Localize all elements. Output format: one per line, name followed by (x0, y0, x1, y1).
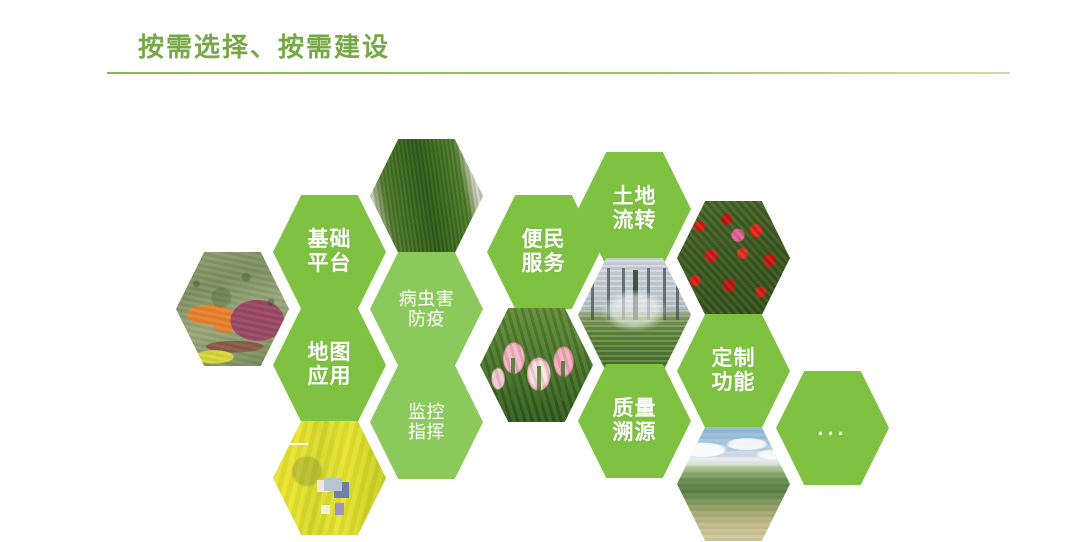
hex-label-dingzhi-gongneng: 定制 功能 (712, 347, 756, 394)
hexagon-grid: 基础 平台病虫害 防疫地图 应用监控 指挥便民 服务土地 流转质量 溯源定制 功… (0, 0, 1080, 542)
hex-cell-ditu-yingyong[interactable]: 地图 应用 (273, 308, 386, 422)
hex-cell-map-yellow-photo[interactable] (273, 421, 386, 535)
hex-cell-jichu-pingtai[interactable]: 基础 平台 (273, 195, 386, 309)
hex-label-zhiliang-suyuan: 质量 溯源 (613, 397, 657, 444)
hex-label-more-ellipsis: ... (817, 416, 847, 441)
hex-label-tudi-liuzhuan: 土地 流转 (613, 185, 657, 232)
hex-cell-dingzhi-gongneng[interactable]: 定制 功能 (677, 314, 790, 428)
hex-cell-field-photo[interactable] (370, 139, 483, 253)
hex-cell-jiankong-zhihui[interactable]: 监控 指挥 (370, 365, 483, 479)
redflowers-photo (677, 201, 790, 315)
hex-cell-bingchonghai-fangyi[interactable]: 病虫害 防疫 (370, 252, 483, 366)
field-photo (370, 139, 483, 253)
hex-cell-grassland-photo[interactable] (677, 427, 790, 541)
hex-cell-zhiliang-suyuan[interactable]: 质量 溯源 (578, 364, 691, 478)
hex-label-jichu-pingtai: 基础 平台 (308, 228, 352, 275)
greenhouse-photo (578, 258, 691, 372)
hex-cell-redflowers-photo[interactable] (677, 201, 790, 315)
map-yellow-photo (273, 421, 386, 535)
hex-cell-more-ellipsis[interactable]: ... (776, 371, 889, 485)
hex-label-ditu-yingyong: 地图 应用 (308, 341, 352, 388)
hex-cell-map-green-photo[interactable] (176, 252, 289, 366)
map-green-photo (176, 252, 289, 366)
hex-label-jiankong-zhihui: 监控 指挥 (408, 402, 445, 442)
hex-label-bingchonghai-fangyi: 病虫害 防疫 (399, 289, 455, 329)
tulips-photo (480, 308, 593, 422)
hex-label-bianmin-fuwu: 便民 服务 (522, 228, 566, 275)
grassland-photo (677, 427, 790, 541)
hex-cell-tulips-photo[interactable] (480, 308, 593, 422)
hex-cell-greenhouse-photo[interactable] (578, 258, 691, 372)
